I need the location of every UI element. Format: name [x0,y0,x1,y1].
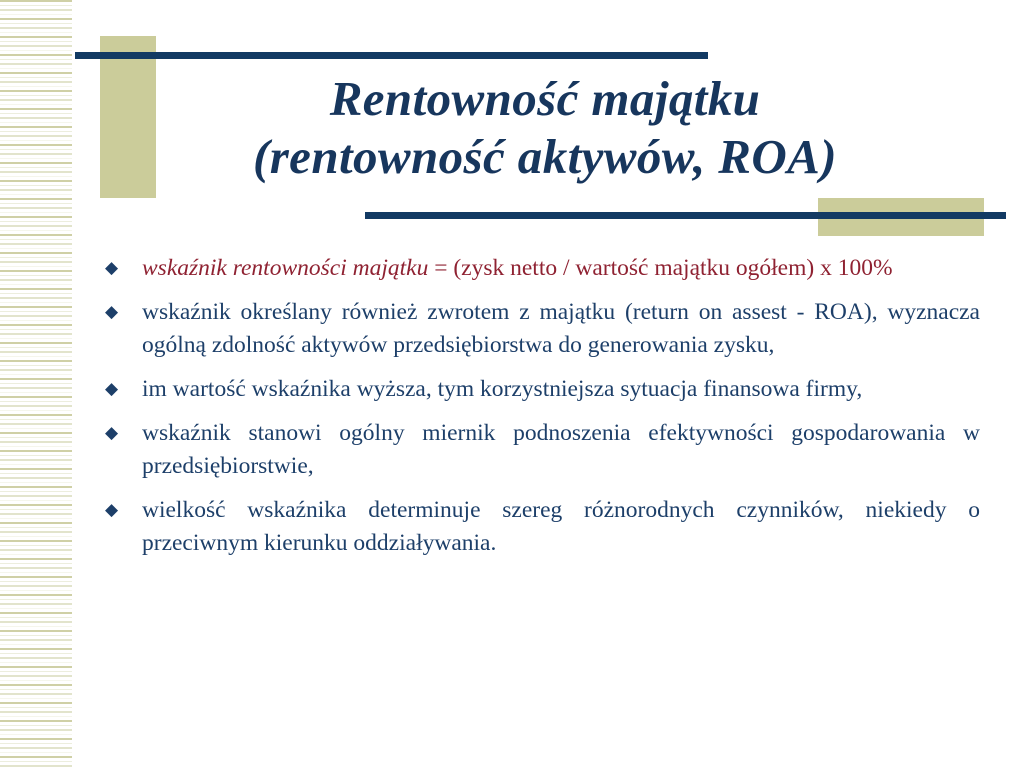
bullet-diamond-icon: ◆ [100,252,142,285]
slide-title: Rentowność majątku (rentowność aktywów, … [120,70,970,186]
bullet-item-text: wielkość wskaźnika determinuje szereg ró… [142,494,980,560]
bullet-list-item: ◆wielkość wskaźnika determinuje szereg r… [100,494,980,560]
bullet-item-text: im wartość wskaźnika wyższa, tym korzyst… [142,373,980,406]
bullet-diamond-icon: ◆ [100,296,142,329]
bullet-emphasis-text: wskaźnik rentowności majątku [142,255,428,281]
bullet-list-item: ◆wskaźnik stanowi ogólny miernik podnosz… [100,417,980,483]
bullet-list-item: ◆im wartość wskaźnika wyższa, tym korzys… [100,373,980,406]
bullet-plain-text: = (zysk netto / wartość majątku ogółem) … [428,255,892,281]
bullet-diamond-icon: ◆ [100,494,142,527]
bullet-item-text: wskaźnik określany również zwrotem z maj… [142,296,980,362]
decorative-stripe-band [0,0,72,768]
bullet-item-text: wskaźnik rentowności majątku = (zysk net… [142,252,980,285]
bullet-item-text: wskaźnik stanowi ogólny miernik podnosze… [142,417,980,483]
slide-body-bullet-list: ◆wskaźnik rentowności majątku = (zysk ne… [100,252,980,571]
decorative-navy-rule-top [75,52,708,59]
bullet-diamond-icon: ◆ [100,417,142,450]
slide-canvas: Rentowność majątku (rentowność aktywów, … [0,0,1024,768]
bullet-list-item: ◆wskaźnik określany również zwrotem z ma… [100,296,980,362]
decorative-navy-rule-bottom [365,212,1006,219]
bullet-list-item: ◆wskaźnik rentowności majątku = (zysk ne… [100,252,980,285]
bullet-diamond-icon: ◆ [100,373,142,406]
